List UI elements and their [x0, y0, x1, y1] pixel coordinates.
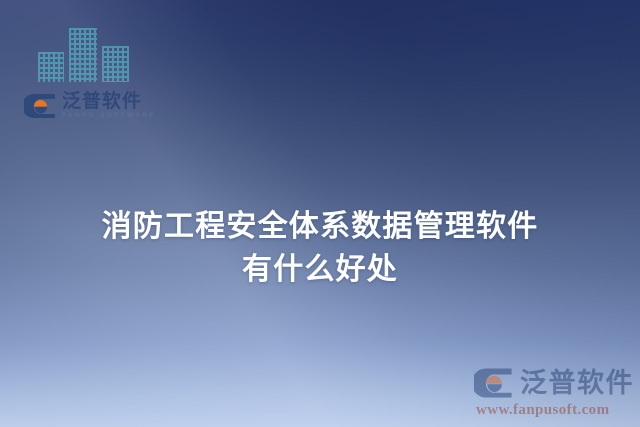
cityscape-tower-right — [102, 46, 129, 82]
brand-name-en: FANPU SOFTWARE — [62, 113, 156, 119]
pixel-cityscape-icon — [38, 26, 134, 82]
fanpu-logo-mark-icon — [24, 93, 57, 119]
watermark-logo: 泛普软件 — [474, 367, 634, 399]
brand-name-cn: 泛普软件 — [62, 92, 156, 111]
cityscape-tower-left — [38, 52, 64, 82]
brand-logo-text: 泛普软件 FANPU SOFTWARE — [62, 92, 156, 119]
cityscape-tower-middle — [69, 28, 97, 82]
brand-logo: 泛普软件 FANPU SOFTWARE — [24, 92, 162, 119]
page-title: 消防工程安全体系数据管理软件 有什么好处 — [0, 206, 640, 291]
watermark-url: www.fanpusoft.com — [476, 402, 634, 419]
fanpu-logo-mark-icon — [474, 367, 514, 399]
page-title-line-2: 有什么好处 — [0, 249, 640, 292]
watermark-name-cn: 泛普软件 — [520, 370, 634, 397]
brand-block: 泛普软件 FANPU SOFTWARE — [22, 26, 162, 119]
promo-banner: 泛普软件 FANPU SOFTWARE 消防工程安全体系数据管理软件 有什么好处… — [0, 0, 640, 427]
page-title-line-1: 消防工程安全体系数据管理软件 — [0, 206, 640, 249]
watermark: 泛普软件 www.fanpusoft.com — [474, 367, 634, 419]
